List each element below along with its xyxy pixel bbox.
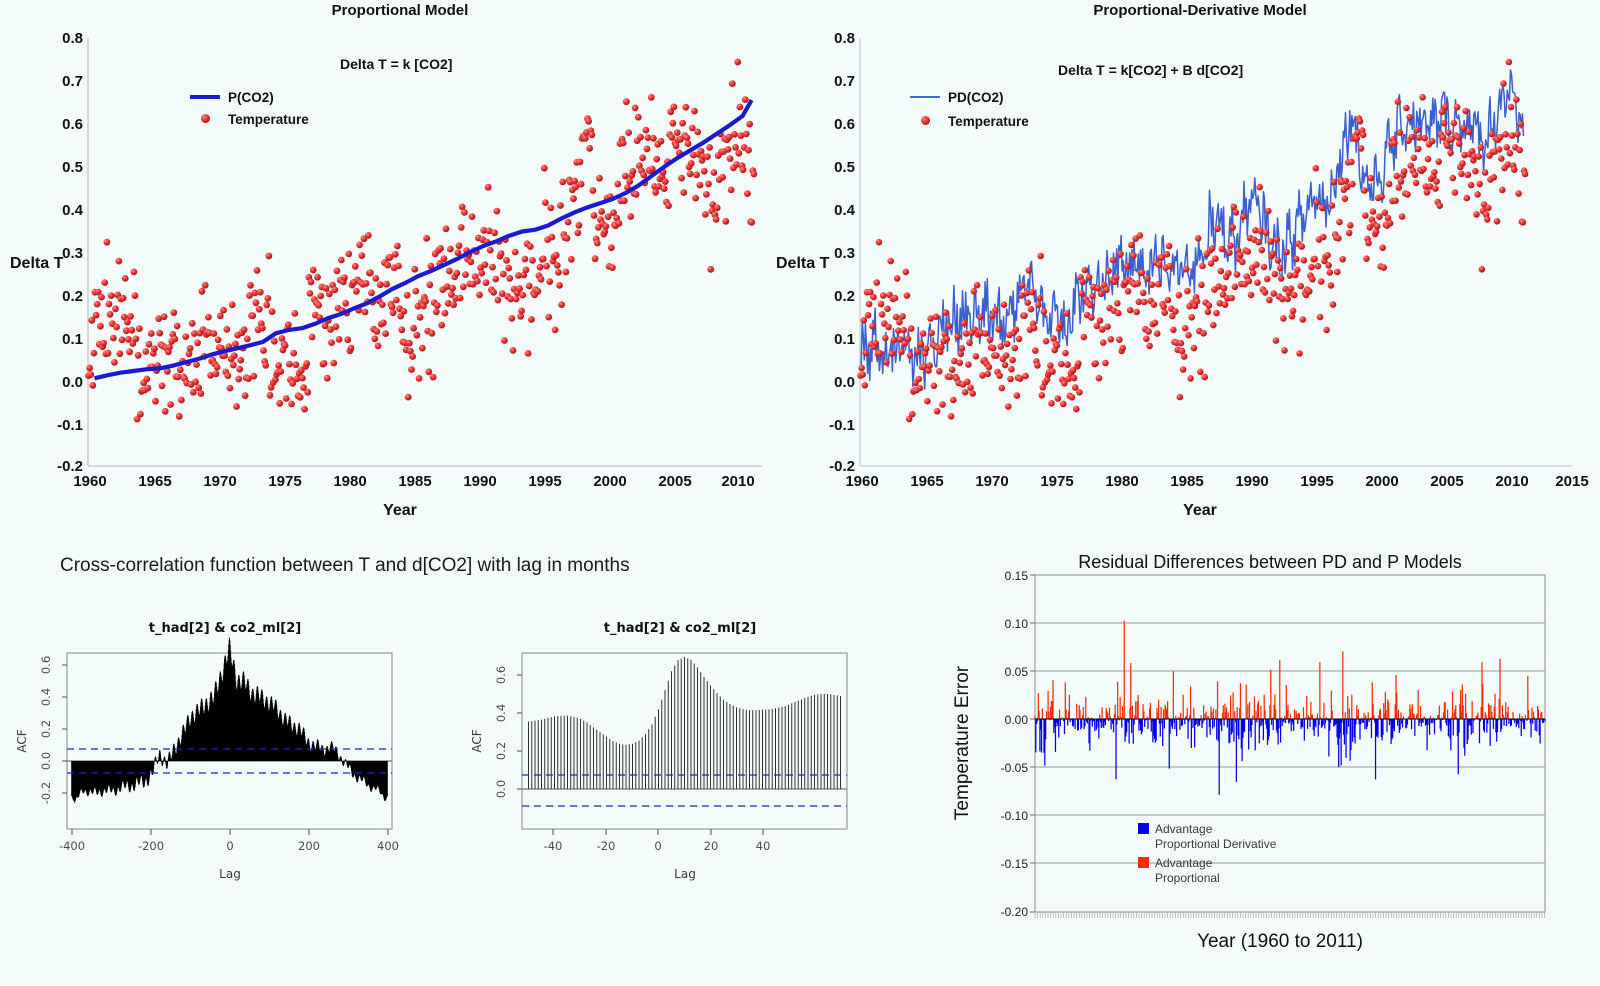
svg-text:2000: 2000 bbox=[593, 473, 626, 490]
svg-text:0.5: 0.5 bbox=[62, 159, 83, 176]
svg-text:0.8: 0.8 bbox=[62, 30, 83, 47]
legend-pd-line1: Advantage bbox=[1155, 822, 1213, 836]
svg-text:-0.1: -0.1 bbox=[57, 417, 83, 434]
svg-text:-0.15: -0.15 bbox=[1001, 857, 1029, 871]
svg-text:200: 200 bbox=[298, 839, 320, 853]
svg-text:-0.1: -0.1 bbox=[829, 417, 855, 434]
temperature-scatter bbox=[857, 59, 1528, 423]
proportional-plot: 0.80.7 0.60.5 0.40.3 0.20.1 0.0-0.1 -0.2… bbox=[0, 0, 800, 535]
panel-proportional-derivative-model: Proportional-Derivative Model Delta T = … bbox=[800, 0, 1600, 535]
svg-text:0.3: 0.3 bbox=[834, 245, 855, 262]
residual-title: Residual Differences between PD and P Mo… bbox=[1078, 552, 1462, 572]
ccf-left-xlabel: Lag bbox=[219, 867, 241, 881]
svg-text:1975: 1975 bbox=[1040, 473, 1073, 490]
svg-text:1995: 1995 bbox=[1300, 473, 1333, 490]
svg-text:1960: 1960 bbox=[73, 473, 106, 490]
legend-p-line2: Proportional bbox=[1155, 871, 1220, 885]
ccf-left-spikes bbox=[72, 637, 388, 803]
svg-text:40: 40 bbox=[756, 839, 771, 853]
svg-text:0.10: 0.10 bbox=[1005, 617, 1029, 631]
svg-text:1985: 1985 bbox=[1170, 473, 1203, 490]
svg-text:1975: 1975 bbox=[268, 473, 301, 490]
svg-text:-0.2: -0.2 bbox=[39, 782, 53, 804]
svg-text:0.8: 0.8 bbox=[834, 30, 855, 47]
svg-text:0.7: 0.7 bbox=[834, 73, 855, 90]
svg-text:0.3: 0.3 bbox=[62, 245, 83, 262]
svg-text:0.1: 0.1 bbox=[834, 331, 855, 348]
svg-text:-40: -40 bbox=[544, 839, 563, 853]
svg-text:2010: 2010 bbox=[1495, 473, 1528, 490]
svg-text:0.5: 0.5 bbox=[834, 159, 855, 176]
svg-text:2005: 2005 bbox=[658, 473, 691, 490]
panel-residual-differences: Residual Differences between PD and P Mo… bbox=[910, 535, 1600, 986]
svg-text:2000: 2000 bbox=[1365, 473, 1398, 490]
residual-xlabel: Year (1960 to 2011) bbox=[1197, 931, 1363, 952]
svg-text:0.4: 0.4 bbox=[39, 688, 53, 706]
ccf-right-ylabel: ACF bbox=[470, 729, 484, 752]
svg-text:0.0: 0.0 bbox=[39, 752, 53, 770]
ccf-right-xlabel: Lag bbox=[674, 867, 696, 881]
ccf-left-ylabel: ACF bbox=[15, 729, 29, 752]
svg-text:0.0: 0.0 bbox=[834, 374, 855, 391]
svg-text:1995: 1995 bbox=[528, 473, 561, 490]
svg-text:0.0: 0.0 bbox=[494, 780, 508, 798]
svg-text:1970: 1970 bbox=[203, 473, 236, 490]
svg-text:2010: 2010 bbox=[721, 473, 754, 490]
svg-text:0.6: 0.6 bbox=[834, 116, 855, 133]
svg-text:0.4: 0.4 bbox=[62, 202, 84, 219]
svg-text:1980: 1980 bbox=[333, 473, 366, 490]
svg-text:0.1: 0.1 bbox=[62, 331, 83, 348]
residual-ylabel: Temperature Error bbox=[952, 665, 973, 820]
temperature-scatter bbox=[85, 59, 757, 423]
panel-proportional-model: Proportional Model Delta T = k [CO2] Del… bbox=[0, 0, 800, 535]
svg-text:0: 0 bbox=[654, 839, 661, 853]
ccf-right-title: t_had[2] & co2_ml[2] bbox=[495, 621, 865, 636]
svg-text:2005: 2005 bbox=[1430, 473, 1463, 490]
svg-text:2015: 2015 bbox=[1555, 473, 1588, 490]
svg-text:1990: 1990 bbox=[1235, 473, 1268, 490]
svg-text:0.15: 0.15 bbox=[1005, 569, 1029, 583]
residual-bars bbox=[1035, 621, 1545, 795]
ccf-right-plot: 0.6 0.4 0.2 0.0 ACF -40-20 0 20 40 Lag bbox=[455, 635, 905, 975]
svg-text:0.2: 0.2 bbox=[62, 288, 83, 305]
ccf-left-plot: 0.6 0.4 0.2 0.0 -0.2 ACF -400-200 0 200 … bbox=[0, 635, 440, 975]
svg-text:1980: 1980 bbox=[1105, 473, 1138, 490]
pdco2-model-line bbox=[860, 70, 1524, 389]
svg-text:1990: 1990 bbox=[463, 473, 496, 490]
svg-text:-0.20: -0.20 bbox=[1001, 905, 1029, 919]
svg-text:20: 20 bbox=[704, 839, 719, 853]
svg-text:1960: 1960 bbox=[845, 473, 878, 490]
svg-text:-200: -200 bbox=[138, 839, 164, 853]
ccf-header: Cross-correlation function between T and… bbox=[60, 555, 630, 577]
svg-text:0.05: 0.05 bbox=[1005, 665, 1029, 679]
svg-text:400: 400 bbox=[377, 839, 399, 853]
svg-text:-20: -20 bbox=[597, 839, 616, 853]
svg-text:0: 0 bbox=[226, 839, 233, 853]
panel-crosscorrelation: Cross-correlation function between T and… bbox=[0, 535, 910, 986]
ccf-left-title: t_had[2] & co2_ml[2] bbox=[40, 621, 410, 636]
svg-text:0.6: 0.6 bbox=[62, 116, 83, 133]
svg-text:0.6: 0.6 bbox=[39, 656, 53, 674]
residual-legend: Advantage Proportional Derivative Advant… bbox=[1138, 822, 1277, 885]
svg-text:-400: -400 bbox=[59, 839, 85, 853]
ccf-right-spikes bbox=[529, 657, 841, 789]
svg-text:1965: 1965 bbox=[910, 473, 943, 490]
svg-text:-0.10: -0.10 bbox=[1001, 809, 1029, 823]
svg-text:0.2: 0.2 bbox=[834, 288, 855, 305]
svg-text:0.00: 0.00 bbox=[1005, 713, 1029, 727]
pd-plot: 0.80.7 0.60.5 0.40.3 0.20.1 0.0-0.1 -0.2… bbox=[800, 0, 1600, 535]
svg-text:0.2: 0.2 bbox=[39, 720, 53, 738]
svg-text:0.0: 0.0 bbox=[62, 374, 83, 391]
legend-pd-line2: Proportional Derivative bbox=[1155, 837, 1277, 851]
svg-text:1985: 1985 bbox=[398, 473, 431, 490]
residual-plot: Residual Differences between PD and P Mo… bbox=[910, 535, 1600, 986]
svg-text:1970: 1970 bbox=[975, 473, 1008, 490]
legend-p-line1: Advantage bbox=[1155, 856, 1213, 870]
svg-text:0.6: 0.6 bbox=[494, 666, 508, 684]
svg-text:1965: 1965 bbox=[138, 473, 171, 490]
svg-text:-0.05: -0.05 bbox=[1001, 761, 1029, 775]
svg-text:0.2: 0.2 bbox=[494, 742, 508, 760]
svg-text:0.4: 0.4 bbox=[494, 704, 508, 722]
svg-text:0.7: 0.7 bbox=[62, 73, 83, 90]
svg-text:0.4: 0.4 bbox=[834, 202, 856, 219]
